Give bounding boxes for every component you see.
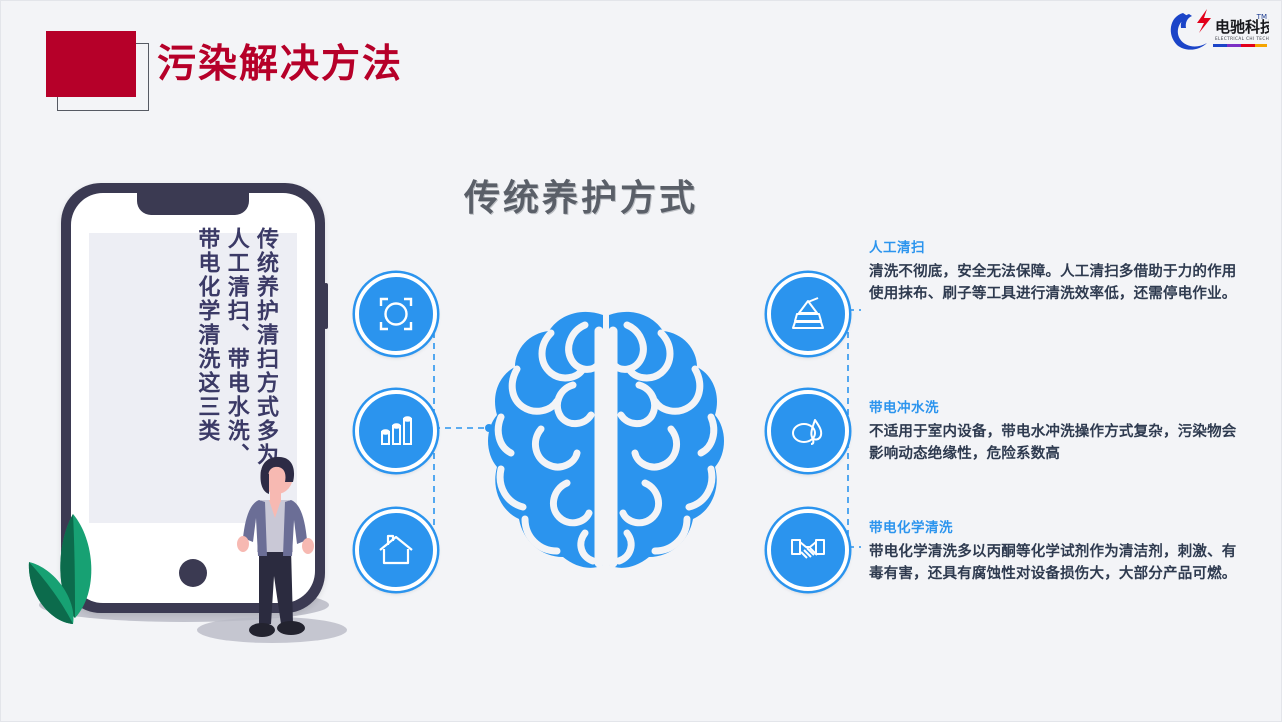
info-block-3-body: 带电化学清洗多以丙酮等化学试剂作为清洁剂，刺激、有毒有害，还具有腐蚀性对设备损伤…	[869, 541, 1251, 585]
info-block-1-heading: 人工清扫	[869, 239, 1251, 257]
company-logo: 电驰科技 ELECTRICAL CHI TECHNOLOGY TM	[1163, 5, 1269, 55]
person-illustration	[229, 456, 321, 651]
focus-frame-icon[interactable]	[355, 273, 437, 355]
logo-artwork: 电驰科技 ELECTRICAL CHI TECHNOLOGY	[1163, 5, 1269, 55]
house-icon[interactable]	[355, 509, 437, 591]
phone-home-button	[179, 559, 207, 587]
info-block-1: 人工清扫 清洗不彻底，安全无法保障。人工清扫多借助于力的作用使用抹布、刷子等工具…	[869, 239, 1251, 305]
info-block-3: 带电化学清洗 带电化学清洗多以丙酮等化学试剂作为清洁剂，刺激、有毒有害，还具有腐…	[869, 519, 1251, 585]
slide-header: 污染解决方法	[1, 1, 1281, 131]
phone-side-button	[324, 283, 328, 329]
info-block-2-body: 不适用于室内设备，带电水冲洗操作方式复杂，污染物会影响动态绝缘性，危险系数高	[869, 421, 1251, 465]
phone-notch	[137, 193, 249, 215]
stacked-layers-icon[interactable]	[767, 273, 849, 355]
handshake-icon[interactable]	[767, 509, 849, 591]
header-square-fill	[46, 31, 136, 97]
brain-illustration	[481, 301, 731, 581]
logo-trademark: TM	[1257, 13, 1267, 21]
water-spray-icon[interactable]	[767, 390, 849, 472]
page-title: 污染解决方法	[157, 41, 403, 89]
leaves-illustration	[19, 506, 139, 646]
vertical-text-col-3: 带电化学清洗这三类	[195, 227, 218, 527]
info-block-3-heading: 带电化学清洗	[869, 519, 1251, 537]
slide-root: 污染解决方法 电驰科技 ELECTRICAL CHI TECHNOLOGY TM…	[0, 0, 1282, 722]
section-heading: 传统养护方式	[464, 169, 698, 221]
info-block-2-heading: 带电冲水洗	[869, 399, 1251, 417]
info-block-1-body: 清洗不彻底，安全无法保障。人工清扫多借助于力的作用使用抹布、刷子等工具进行清洗效…	[869, 261, 1251, 305]
svg-text:ELECTRICAL CHI TECHNOLOGY: ELECTRICAL CHI TECHNOLOGY	[1215, 36, 1269, 41]
info-block-2: 带电冲水洗 不适用于室内设备，带电水冲洗操作方式复杂，污染物会影响动态绝缘性，危…	[869, 399, 1251, 465]
bar-chart-icon[interactable]	[355, 390, 437, 472]
